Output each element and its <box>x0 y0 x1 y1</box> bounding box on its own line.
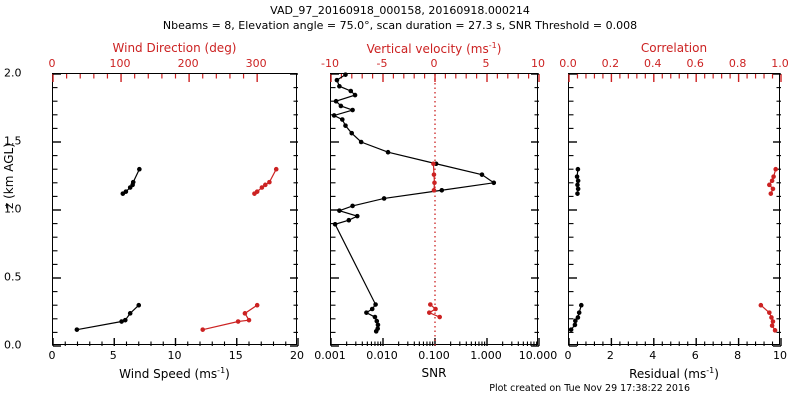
bottom-tick-0-4: 20 <box>290 349 304 362</box>
bottom-axis-label-1: SNR <box>422 366 447 380</box>
y-tick-0.0: 0.0 <box>4 339 48 352</box>
bottom-tick-1-1: 0.010 <box>366 349 398 362</box>
top-tick-1-0: -10 <box>321 57 339 70</box>
bottom-tick-2-4: 8 <box>734 349 741 362</box>
top-tick-1-3: 5 <box>483 57 490 70</box>
top-tick-2-0: 0.0 <box>559 57 577 70</box>
top-tick-2-5: 1.0 <box>771 57 789 70</box>
plot-timestamp: Plot created on Tue Nov 29 17:38:22 2016 <box>489 383 690 394</box>
figure-title-line-1: VAD_97_20160918_000158, 20160918.000214 <box>270 4 530 17</box>
figure-title-line-2: Nbeams = 8, Elevation angle = 75.0°, sca… <box>163 19 637 32</box>
bottom-axis-label-2: Residual (ms-1) <box>629 366 719 381</box>
top-tick-0-1: 100 <box>110 57 131 70</box>
y-tick-1.5: 1.5 <box>4 135 48 148</box>
bottom-tick-1-4: 10.000 <box>519 349 558 362</box>
top-tick-1-2: 0 <box>431 57 438 70</box>
bottom-tick-2-5: 10 <box>773 349 787 362</box>
bottom-tick-2-2: 4 <box>649 349 656 362</box>
vad-plot-figure: VAD_97_20160918_000158, 20160918.000214 … <box>0 0 800 400</box>
top-tick-2-3: 0.6 <box>686 57 704 70</box>
top-tick-0-3: 300 <box>246 57 267 70</box>
bottom-tick-2-0: 0 <box>565 349 572 362</box>
bottom-tick-2-3: 6 <box>692 349 699 362</box>
top-axis-label-2: Correlation <box>641 41 707 55</box>
bottom-tick-1-3: 1.000 <box>470 349 502 362</box>
top-tick-2-4: 0.8 <box>729 57 747 70</box>
y-tick-2.0: 2.0 <box>4 67 48 80</box>
top-tick-1-1: -5 <box>377 57 388 70</box>
top-tick-1-4: 10 <box>531 57 545 70</box>
panel-snr <box>330 73 538 345</box>
bottom-tick-1-0: 0.001 <box>314 349 346 362</box>
y-axis-tick-labels: 0.00.51.01.52.0 <box>0 0 48 400</box>
bottom-tick-2-1: 2 <box>607 349 614 362</box>
bottom-tick-0-3: 15 <box>229 349 243 362</box>
bottom-axis-label-0: Wind Speed (ms-1) <box>119 366 230 381</box>
bottom-tick-1-2: 0.100 <box>418 349 450 362</box>
top-axis-label-0: Wind Direction (deg) <box>113 41 237 55</box>
panel-wind-speed <box>52 73 297 345</box>
bottom-tick-0-1: 5 <box>110 349 117 362</box>
top-tick-2-1: 0.2 <box>602 57 620 70</box>
top-tick-0-0: 0 <box>49 57 56 70</box>
bottom-tick-0-2: 10 <box>168 349 182 362</box>
top-axis-label-1: Vertical velocity (ms-1) <box>367 41 502 56</box>
bottom-tick-0-0: 0 <box>49 349 56 362</box>
top-tick-0-2: 200 <box>178 57 199 70</box>
y-tick-0.5: 0.5 <box>4 271 48 284</box>
y-tick-1.0: 1.0 <box>4 203 48 216</box>
panel-residual <box>568 73 780 345</box>
top-tick-2-2: 0.4 <box>644 57 662 70</box>
